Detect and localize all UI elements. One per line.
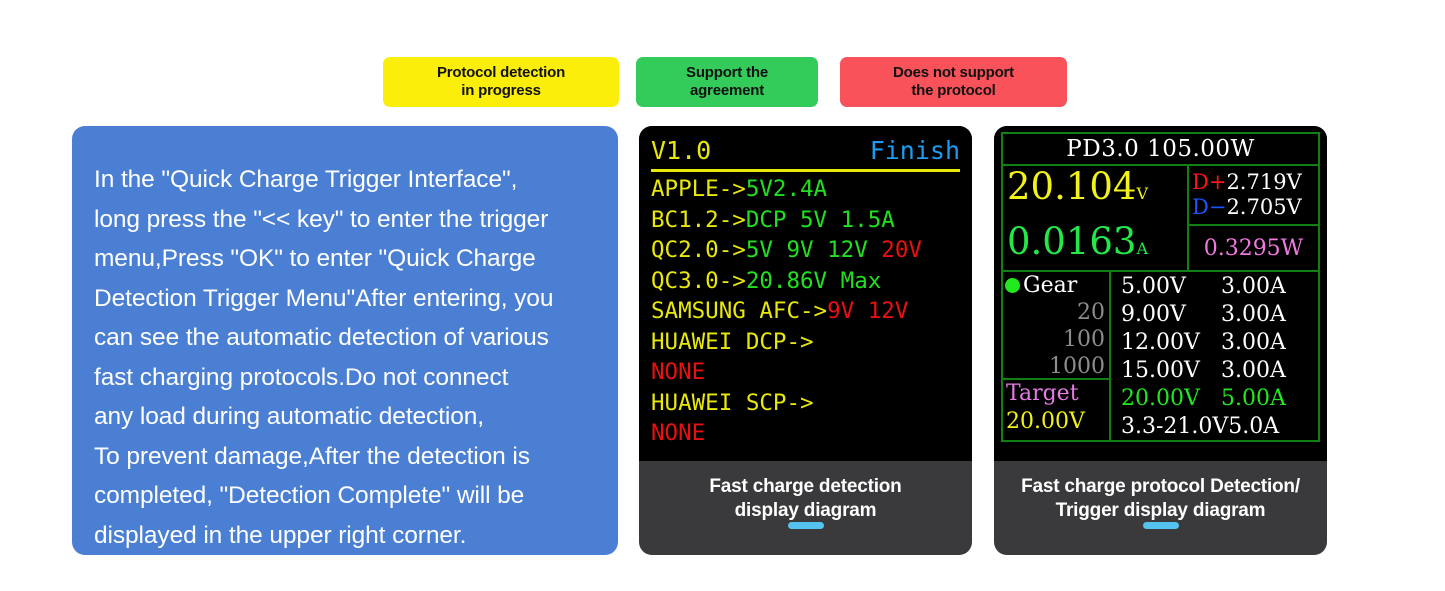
protocol-row: NONE: [647, 357, 964, 388]
pd-dminus-label: D−: [1192, 195, 1226, 219]
pdo-volts: 9.00V: [1121, 301, 1221, 329]
pdo-amps: 5.0A: [1228, 414, 1279, 439]
protocol-label: HUAWEI DCP->: [651, 329, 814, 355]
pd-gear-column: Gear 20 100 1000 Target 20.00V: [1001, 270, 1111, 442]
protocol-value: 9V 12V: [827, 298, 908, 324]
trigger-caption: Fast charge protocol Detection/ Trigger …: [994, 461, 1327, 555]
pd-current-value: 0.0163: [1007, 220, 1136, 263]
pdo-amps: 3.00A: [1221, 302, 1286, 327]
protocol-label: QC2.0->: [651, 237, 746, 263]
detection-caption-line1: Fast charge detection: [639, 475, 972, 499]
detection-divider: [651, 169, 960, 172]
detection-topbar: V1.0 Finish: [647, 136, 964, 165]
protocol-label: APPLE->: [651, 176, 746, 202]
pd-gear-number: 20: [1003, 299, 1105, 326]
legend-badge-unsupported: Does not support the protocol: [840, 57, 1067, 107]
firmware-version: V1.0: [651, 136, 711, 165]
home-indicator: [788, 522, 824, 529]
pd-current-unit: A: [1136, 239, 1148, 258]
protocol-row: APPLE->5V2.4A: [647, 174, 964, 205]
pd-target-value: 20.00V: [1006, 408, 1109, 436]
pdo-amps: 3.00A: [1221, 358, 1286, 383]
protocol-row: HUAWEI SCP->: [647, 388, 964, 419]
trigger-caption-line2: Trigger display diagram: [994, 499, 1327, 523]
pd-dminus-row: D−2.705V: [1192, 195, 1318, 220]
pd-gear-number: 1000: [1003, 353, 1105, 380]
pdo-row-selected[interactable]: 20.00V5.00A: [1121, 385, 1318, 413]
protocol-value: 5V2.4A: [746, 176, 827, 202]
pd-target-label: Target: [1006, 380, 1109, 408]
pdo-amps: 5.00A: [1221, 386, 1286, 411]
protocol-value: 20.86V Max: [746, 268, 881, 294]
protocol-value: 5V 9V 12V: [746, 237, 881, 263]
trigger-screen: PD3.0 105.00W 20.104V 0.0163A D+2.719V D…: [994, 126, 1327, 461]
pdo-row[interactable]: 12.00V3.00A: [1121, 329, 1318, 357]
protocol-row: NONE: [647, 418, 964, 449]
pdo-amps: 3.00A: [1221, 330, 1286, 355]
pd-voltage-value: 20.104: [1007, 165, 1136, 208]
legend-row: Protocol detection in progress Support t…: [383, 57, 1073, 107]
pd-gear-number: 100: [1003, 326, 1105, 353]
protocol-value: DCP 5V 1.5A: [746, 207, 895, 233]
protocol-row: BC1.2->DCP 5V 1.5A: [647, 205, 964, 236]
pd-gear-upper: Gear 20 100 1000: [1001, 270, 1111, 380]
protocol-label: QC3.0->: [651, 268, 746, 294]
protocol-value: NONE: [651, 420, 705, 446]
pd-dplus-label: D+: [1192, 170, 1226, 194]
pdo-volts: 5.00V: [1121, 273, 1221, 301]
pdo-volts: 15.00V: [1121, 357, 1221, 385]
detection-caption: Fast charge detection display diagram: [639, 461, 972, 555]
legend-badge-line1: Does not support: [893, 64, 1014, 82]
legend-badge-in-progress: Protocol detection in progress: [383, 57, 619, 107]
protocol-value-unsupported: 20V: [881, 237, 922, 263]
protocol-value: NONE: [651, 359, 705, 385]
protocol-row: HUAWEI DCP->: [647, 327, 964, 358]
protocol-row: SAMSUNG AFC->9V 12V: [647, 296, 964, 327]
protocol-label: BC1.2->: [651, 207, 746, 233]
pd-gear-label: Gear: [1023, 272, 1077, 299]
detection-screen: V1.0 Finish APPLE->5V2.4A BC1.2->DCP 5V …: [639, 126, 972, 461]
trigger-caption-line1: Fast charge protocol Detection/: [994, 475, 1327, 499]
pdo-volts: 12.00V: [1121, 329, 1221, 357]
legend-badge-line2: in progress: [461, 82, 541, 100]
pd-dplus-row: D+2.719V: [1192, 170, 1318, 195]
pd-vi-block: 20.104V 0.0163A: [1001, 164, 1189, 272]
detection-status: Finish: [870, 136, 960, 165]
status-dot-icon: [1005, 278, 1020, 293]
pdo-row[interactable]: 5.00V3.00A: [1121, 273, 1318, 301]
legend-badge-line1: Protocol detection: [437, 64, 565, 82]
legend-badge-line2: agreement: [690, 82, 764, 100]
cards-row: In the "Quick Charge Trigger Interface",…: [0, 126, 1445, 558]
protocol-row: QC3.0->20.86V Max: [647, 266, 964, 297]
instruction-text: In the "Quick Charge Trigger Interface",…: [94, 160, 596, 555]
pd-current-reading: 0.0163A: [1007, 218, 1187, 273]
protocol-row: QC2.0->5V 9V 12V 20V: [647, 235, 964, 266]
pd-side-block: D+2.719V D−2.705V 0.3295W: [1187, 164, 1320, 272]
legend-badge-supported: Support the agreement: [636, 57, 818, 107]
pdo-row[interactable]: 9.00V3.00A: [1121, 301, 1318, 329]
pd-pdo-block: Gear 20 100 1000 Target 20.00V 5.00V3.00…: [1001, 270, 1320, 442]
legend-badge-line2: the protocol: [911, 82, 995, 100]
protocol-label: HUAWEI SCP->: [651, 390, 814, 416]
instruction-card: In the "Quick Charge Trigger Interface",…: [72, 126, 618, 555]
pd-power-reading: 0.3295W: [1187, 224, 1320, 272]
pd-data-lines: D+2.719V D−2.705V: [1187, 164, 1320, 226]
pdo-row-range[interactable]: 3.3-21.0V5.0A: [1121, 413, 1318, 441]
pd-dplus-value: 2.719V: [1226, 170, 1301, 194]
pd-voltage-reading: 20.104V: [1007, 163, 1187, 218]
pdo-volts: 3.3-21.0V: [1121, 413, 1228, 441]
pd-dminus-value: 2.705V: [1226, 195, 1301, 219]
device-card-trigger: PD3.0 105.00W 20.104V 0.0163A D+2.719V D…: [994, 126, 1327, 555]
pd-gear-header: Gear: [1003, 272, 1105, 299]
protocol-label: SAMSUNG AFC->: [651, 298, 827, 324]
home-indicator: [1143, 522, 1179, 529]
legend-badge-line1: Support the: [686, 64, 768, 82]
pd-pdo-list: 5.00V3.00A 9.00V3.00A 12.00V3.00A 15.00V…: [1109, 270, 1320, 442]
pdo-row[interactable]: 15.00V3.00A: [1121, 357, 1318, 385]
device-card-detection: V1.0 Finish APPLE->5V2.4A BC1.2->DCP 5V …: [639, 126, 972, 555]
pd-target-block: Target 20.00V: [1001, 378, 1111, 442]
detection-caption-line2: display diagram: [639, 499, 972, 523]
pdo-volts: 20.00V: [1121, 385, 1221, 413]
pd-main-readings: 20.104V 0.0163A D+2.719V D−2.705V 0.3295…: [1001, 164, 1320, 272]
pd-voltage-unit: V: [1136, 184, 1148, 203]
pd-header: PD3.0 105.00W: [1001, 132, 1320, 166]
pdo-amps: 3.00A: [1221, 274, 1286, 299]
